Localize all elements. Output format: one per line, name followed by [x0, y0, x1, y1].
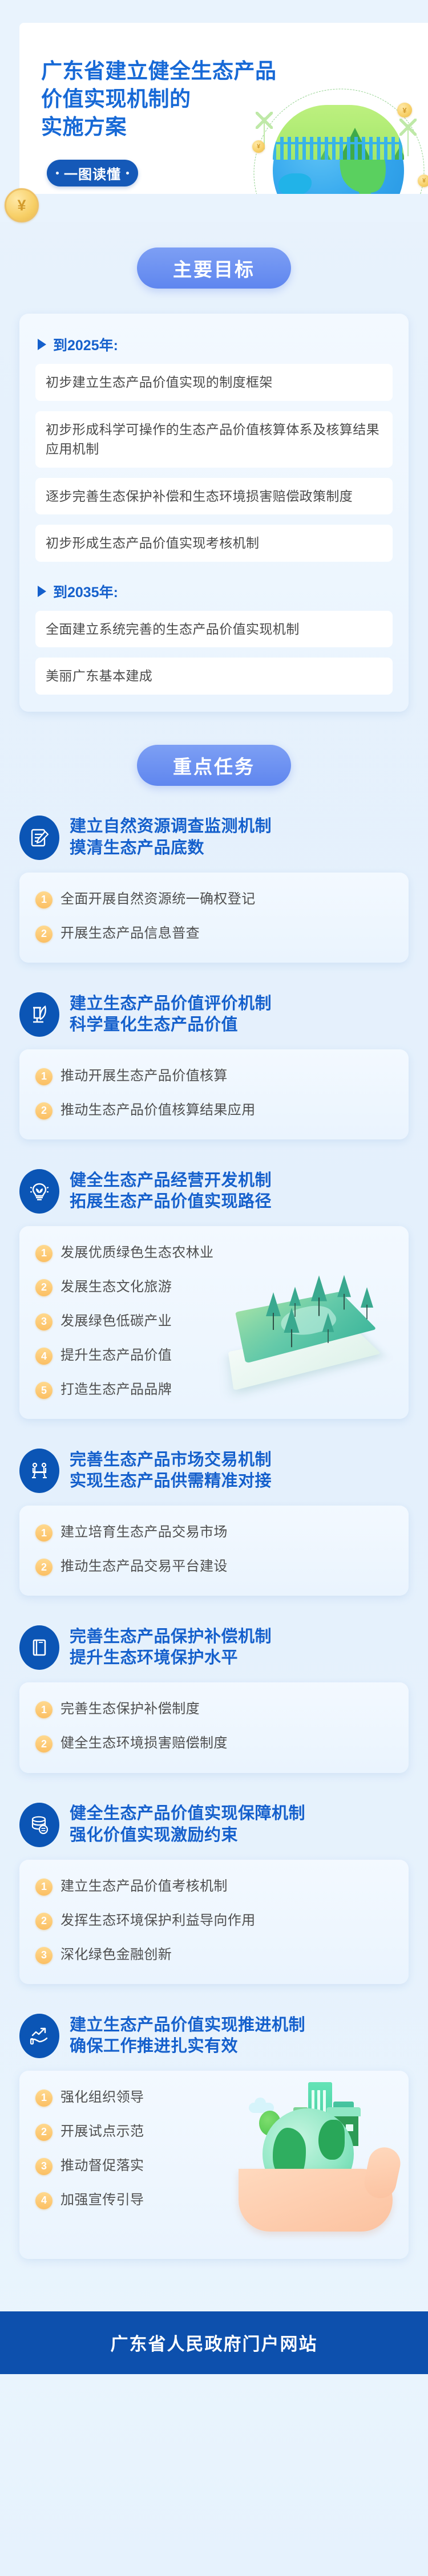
task-title-line-1: 健全生态产品价值实现保障机制: [70, 1803, 305, 1824]
item-number: 1: [35, 891, 53, 908]
tasks-section-header: 重点任务: [0, 745, 428, 786]
page-title-line-2: 价值实现机制的: [41, 85, 281, 113]
list-item: 1建立培育生态产品交易市场: [35, 1523, 393, 1542]
item-label: 深化绿色金融创新: [60, 1945, 172, 1965]
item-label: 打造生态产品品牌: [60, 1380, 172, 1399]
item-number: 2: [35, 1735, 53, 1753]
item-label: 强化组织领导: [60, 2088, 144, 2107]
task-header: 建立生态产品价值实现推进机制 确保工作推进扎实有效: [19, 2014, 409, 2058]
task-card: 1发展优质绿色生态农林业 2发展生态文化旅游 3发展绿色低碳产业 4提升生态产品…: [19, 1226, 409, 1419]
task-card: 1推动开展生态产品价值核算 2推动生态产品价值核算结果应用: [19, 1049, 409, 1139]
list-item: 4提升生态产品价值: [35, 1346, 393, 1365]
task-header: 健全生态产品经营开发机制 拓展生态产品价值实现路径: [19, 1169, 409, 1214]
triangle-right-icon: [38, 339, 46, 350]
goal-item: 全面建立系统完善的生态产品价值实现机制: [35, 611, 393, 648]
goal-year-2035: 到2035年:: [38, 581, 393, 602]
goal-item: 初步形成科学可操作的生态产品价值核算体系及核算结果应用机制: [35, 411, 393, 468]
item-number: 2: [35, 1913, 53, 1930]
item-label: 开展试点示范: [60, 2122, 144, 2141]
fence-icon: [273, 137, 404, 160]
item-label: 推动生态产品价值核算结果应用: [60, 1101, 256, 1120]
item-label: 建立生态产品价值考核机制: [60, 1877, 228, 1896]
item-number: 2: [35, 1279, 53, 1296]
hand-growth-icon: [19, 2014, 59, 2058]
task-header: 建立自然资源调查监测机制 摸清生态产品底数: [19, 816, 409, 860]
item-number: 1: [35, 1879, 53, 1896]
list-item: 1完善生态保护补偿制度: [35, 1699, 393, 1719]
item-number: 2: [35, 2124, 53, 2141]
coin-icon: ¥: [418, 175, 428, 187]
goal-item: 逐步完善生态保护补偿和生态环境损害赔偿政策制度: [35, 478, 393, 515]
task-header: 健全生态产品价值实现保障机制 强化价值实现激励约束: [19, 1803, 409, 1847]
item-number: 1: [35, 1701, 53, 1718]
task-title-line-2: 强化价值实现激励约束: [70, 1825, 305, 1846]
list-item: 1建立生态产品价值考核机制: [35, 1877, 393, 1896]
item-label: 建立培育生态产品交易市场: [60, 1523, 228, 1542]
item-number: 3: [35, 2158, 53, 2175]
task-title: 完善生态产品市场交易机制 实现生态产品供需精准对接: [70, 1450, 272, 1492]
task-item-list: 1推动开展生态产品价值核算 2推动生态产品价值核算结果应用: [35, 1066, 393, 1120]
page-title-line-1: 广东省建立健全生态产品: [41, 57, 281, 85]
item-label: 推动开展生态产品价值核算: [60, 1066, 228, 1086]
tasks-pill: 重点任务: [137, 745, 291, 786]
page-title-line-3: 实施方案: [41, 113, 281, 141]
task-card: 1建立生态产品价值考核机制 2发挥生态环境保护利益导向作用 3深化绿色金融创新: [19, 1860, 409, 1984]
task-block-3: 健全生态产品经营开发机制 拓展生态产品价值实现路径 1发展优质绿色生态农林业 2…: [0, 1169, 428, 1419]
coin-icon: ¥: [397, 103, 412, 117]
task-item-list: 1全面开展自然资源统一确权登记 2开展生态产品信息普查: [35, 890, 393, 943]
infographic-page: ¥ ¥ ¥ 广东省建立健全生态产品 价值实现机制的 实施方案 一图读懂 ¥ 主要…: [0, 0, 428, 2576]
list-item: 2推动生态产品价值核算结果应用: [35, 1101, 393, 1120]
task-title: 健全生态产品经营开发机制 拓展生态产品价值实现路径: [70, 1170, 272, 1212]
task-block-4: 完善生态产品市场交易机制 实现生态产品供需精准对接 1建立培育生态产品交易市场 …: [0, 1449, 428, 1596]
item-number: 1: [35, 2090, 53, 2107]
task-block-5: 完善生态产品保护补偿机制 提升生态环境保护水平 1完善生态保护补偿制度 2健全生…: [0, 1625, 428, 1772]
task-title-line-1: 建立生态产品价值评价机制: [70, 993, 272, 1015]
list-item: 1强化组织领导: [35, 2088, 393, 2107]
page-title: 广东省建立健全生态产品 价值实现机制的 实施方案: [41, 57, 281, 141]
list-item: 1发展优质绿色生态农林业: [35, 1243, 393, 1263]
task-title-line-1: 完善生态产品市场交易机制: [70, 1450, 272, 1471]
coin-icon-large: ¥: [5, 188, 39, 222]
task-block-6: 健全生态产品价值实现保障机制 强化价值实现激励约束 1建立生态产品价值考核机制 …: [0, 1803, 428, 1984]
task-title-line-1: 建立生态产品价值实现推进机制: [70, 2015, 305, 2036]
item-label: 推动生态产品交易平台建设: [60, 1557, 228, 1576]
task-title-line-2: 实现生态产品供需精准对接: [70, 1471, 272, 1492]
list-item: 2健全生态环境损害赔偿制度: [35, 1734, 393, 1753]
task-title-line-2: 提升生态环境保护水平: [70, 1648, 272, 1669]
task-block-1: 建立自然资源调查监测机制 摸清生态产品底数 1全面开展自然资源统一确权登记 2开…: [0, 816, 428, 963]
coin-icon: ¥: [252, 140, 265, 153]
item-number: 1: [35, 1068, 53, 1085]
item-number: 5: [35, 1382, 53, 1399]
task-header: 完善生态产品保护补偿机制 提升生态环境保护水平: [19, 1625, 409, 1670]
item-label: 推动督促落实: [60, 2156, 144, 2176]
task-title: 完善生态产品保护补偿机制 提升生态环境保护水平: [70, 1626, 272, 1669]
task-item-list: 1建立培育生态产品交易市场 2推动生态产品交易平台建设: [35, 1523, 393, 1576]
item-number: 1: [35, 1524, 53, 1541]
list-item: 4加强宣传引导: [35, 2190, 393, 2210]
list-item: 3发展绿色低碳产业: [35, 1312, 393, 1331]
item-label: 全面开展自然资源统一确权登记: [60, 890, 256, 909]
task-title: 建立自然资源调查监测机制 摸清生态产品底数: [70, 816, 272, 858]
task-item-list: 1完善生态保护补偿制度 2健全生态环境损害赔偿制度: [35, 1699, 393, 1753]
list-item: 1全面开展自然资源统一确权登记: [35, 890, 393, 909]
item-number: 2: [35, 1559, 53, 1576]
task-title-line-2: 拓展生态产品价值实现路径: [70, 1191, 272, 1212]
item-label: 发展绿色低碳产业: [60, 1312, 172, 1331]
goals-card: 到2025年: 初步建立生态产品价值实现的制度框架 初步形成科学可操作的生态产品…: [19, 314, 409, 712]
item-number: 3: [35, 1313, 53, 1330]
item-number: 4: [35, 1348, 53, 1365]
goals-pill: 主要目标: [137, 248, 291, 289]
task-block-2: 建立生态产品价值评价机制 科学量化生态产品价值 1推动开展生态产品价值核算 2推…: [0, 992, 428, 1139]
task-title-line-1: 健全生态产品经营开发机制: [70, 1170, 272, 1191]
goal-item: 初步形成生态产品价值实现考核机制: [35, 525, 393, 562]
list-item: 3深化绿色金融创新: [35, 1945, 393, 1965]
list-item: 2开展生态产品信息普查: [35, 924, 393, 943]
task-item-list: 1发展优质绿色生态农林业 2发展生态文化旅游 3发展绿色低碳产业 4提升生态产品…: [35, 1243, 393, 1399]
dot-decoration: [126, 172, 129, 175]
list-item: 2推动生态产品交易平台建设: [35, 1557, 393, 1576]
task-block-7: 建立生态产品价值实现推进机制 确保工作推进扎实有效: [0, 2014, 428, 2259]
list-item: 3推动督促落实: [35, 2156, 393, 2176]
handshake-table-icon: [19, 1449, 59, 1493]
task-card: 1完善生态保护补偿制度 2健全生态环境损害赔偿制度: [19, 1682, 409, 1772]
page-header: ¥ ¥ ¥ 广东省建立健全生态产品 价值实现机制的 实施方案 一图读懂 ¥: [0, 0, 428, 222]
footer-label: 广东省人民政府门户网站: [111, 2330, 318, 2355]
read-in-one-image-label: 一图读懂: [64, 163, 121, 183]
task-title-line-1: 完善生态产品保护补偿机制: [70, 1626, 272, 1648]
item-number: 4: [35, 2192, 53, 2209]
task-header: 建立生态产品价值评价机制 科学量化生态产品价值: [19, 992, 409, 1037]
task-item-list: 1建立生态产品价值考核机制 2发挥生态环境保护利益导向作用 3深化绿色金融创新: [35, 1877, 393, 1965]
task-title-line-1: 建立自然资源调查监测机制: [70, 816, 272, 837]
item-label: 发展生态文化旅游: [60, 1277, 172, 1297]
list-item: 2发展生态文化旅游: [35, 1277, 393, 1297]
goal-year-2025: 到2025年:: [38, 334, 393, 355]
task-title-line-2: 科学量化生态产品价值: [70, 1015, 272, 1036]
list-item: 2开展试点示范: [35, 2122, 393, 2141]
item-number: 1: [35, 1245, 53, 1262]
book-icon: [19, 1625, 59, 1670]
windmill-icon: [407, 124, 409, 156]
task-title-line-2: 确保工作推进扎实有效: [70, 2036, 305, 2057]
dot-decoration: [56, 172, 59, 175]
item-label: 发展优质绿色生态农林业: [60, 1243, 213, 1263]
task-title: 建立生态产品价值实现推进机制 确保工作推进扎实有效: [70, 2015, 305, 2057]
item-label: 发挥生态环境保护利益导向作用: [60, 1911, 256, 1930]
goal-year-label: 到2025年:: [53, 334, 118, 355]
item-label: 健全生态环境损害赔偿制度: [60, 1734, 228, 1753]
document-pen-icon: [19, 816, 59, 860]
task-card: 1全面开展自然资源统一确权登记 2开展生态产品信息普查: [19, 873, 409, 963]
coins-stack-icon: [19, 1803, 59, 1847]
item-number: 2: [35, 1102, 53, 1119]
goal-item: 美丽广东基本建成: [35, 658, 393, 695]
goal-item: 初步建立生态产品价值实现的制度框架: [35, 364, 393, 401]
leaf-scale-icon: [19, 992, 59, 1037]
task-card: 1建立培育生态产品交易市场 2推动生态产品交易平台建设: [19, 1506, 409, 1596]
list-item: 1推动开展生态产品价值核算: [35, 1066, 393, 1086]
task-title: 健全生态产品价值实现保障机制 强化价值实现激励约束: [70, 1803, 305, 1845]
task-item-list: 1强化组织领导 2开展试点示范 3推动督促落实 4加强宣传引导: [35, 2088, 393, 2210]
task-title-line-2: 摸清生态产品底数: [70, 838, 272, 859]
list-item: 2发挥生态环境保护利益导向作用: [35, 1911, 393, 1930]
task-header: 完善生态产品市场交易机制 实现生态产品供需精准对接: [19, 1449, 409, 1493]
site-footer: 广东省人民政府门户网站: [0, 2311, 428, 2374]
triangle-right-icon: [38, 586, 46, 597]
item-number: 2: [35, 926, 53, 943]
item-label: 完善生态保护补偿制度: [60, 1699, 200, 1719]
task-card: 1强化组织领导 2开展试点示范 3推动督促落实 4加强宣传引导: [19, 2071, 409, 2259]
list-item: 5打造生态产品品牌: [35, 1380, 393, 1399]
lightbulb-leaf-icon: [19, 1169, 59, 1214]
read-in-one-image-badge[interactable]: 一图读懂: [47, 160, 138, 186]
goal-year-label: 到2035年:: [53, 581, 118, 602]
item-label: 提升生态产品价值: [60, 1346, 172, 1365]
item-label: 开展生态产品信息普查: [60, 924, 200, 943]
item-label: 加强宣传引导: [60, 2190, 144, 2210]
item-number: 3: [35, 1947, 53, 1964]
goals-section-header: 主要目标: [0, 248, 428, 289]
task-title: 建立生态产品价值评价机制 科学量化生态产品价值: [70, 993, 272, 1036]
